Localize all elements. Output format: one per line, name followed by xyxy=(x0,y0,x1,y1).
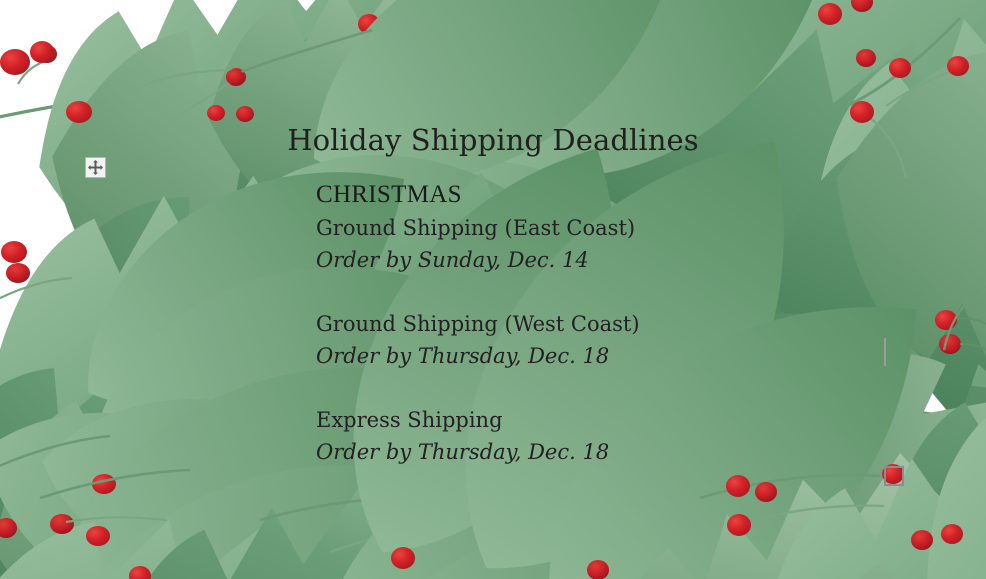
section-heading-label: CHRISTMAS xyxy=(316,181,462,209)
shipping-item-deadline: Order by Thursday, Dec. 18 xyxy=(316,438,609,466)
resize-handle-icon[interactable] xyxy=(884,466,904,486)
shipping-item-ground-east: Ground Shipping (East Coast) Order by Su… xyxy=(316,214,635,274)
shipping-item-deadline: Order by Sunday, Dec. 14 xyxy=(316,246,635,274)
move-crosshair-glyph xyxy=(88,160,103,175)
shipping-item-express: Express Shipping Order by Thursday, Dec.… xyxy=(316,406,609,466)
text-caret-icon[interactable] xyxy=(884,338,886,366)
section-heading-christmas: CHRISTMAS xyxy=(316,181,462,209)
shipping-item-name: Ground Shipping (East Coast) xyxy=(316,214,635,242)
shipping-item-name: Express Shipping xyxy=(316,406,609,434)
document-body: Holiday Shipping Deadlines CHRISTMAS Gro… xyxy=(0,0,986,579)
move-crosshair-icon[interactable] xyxy=(85,157,106,178)
shipping-item-name: Ground Shipping (West Coast) xyxy=(316,310,640,338)
page-title: Holiday Shipping Deadlines xyxy=(0,122,986,158)
shipping-item-deadline: Order by Thursday, Dec. 18 xyxy=(316,342,640,370)
document-canvas: Holiday Shipping Deadlines CHRISTMAS Gro… xyxy=(0,0,986,579)
shipping-item-ground-west: Ground Shipping (West Coast) Order by Th… xyxy=(316,310,640,370)
